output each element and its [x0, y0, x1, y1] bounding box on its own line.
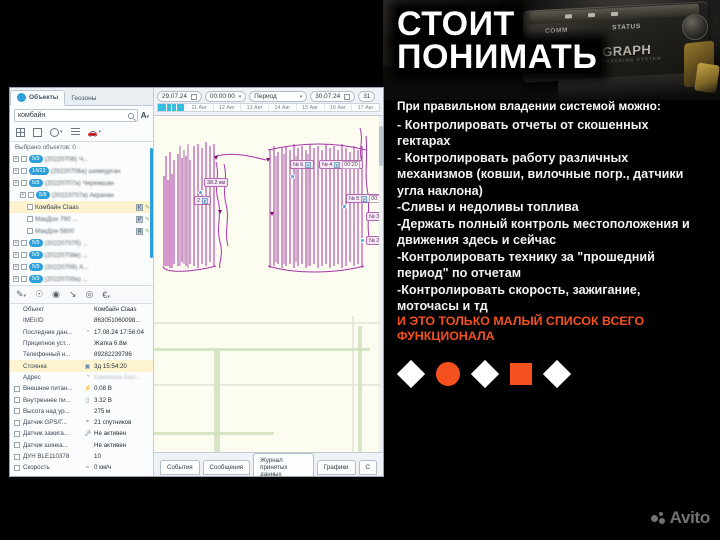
- promo-bullet-list: - Контролировать отчеты от скошенных гек…: [397, 118, 715, 316]
- search-icon: [128, 113, 134, 119]
- selected-objects-value: 0: [72, 144, 75, 151]
- tab-geozones[interactable]: Геозоны: [65, 93, 102, 105]
- map-vertical-scrollbar[interactable]: [379, 116, 383, 452]
- property-row[interactable]: Последние дан...◔17.08.24 17:56:04: [10, 327, 153, 338]
- bottom-tab-bar: СобытияСообщенияЖурнал принятых данныхГр…: [154, 452, 383, 476]
- object-type-badge[interactable]: Р: [136, 216, 143, 223]
- tree-row-label: Комбайн Claas: [35, 204, 79, 211]
- tree-count-badge: 5/9: [29, 263, 43, 271]
- map-pin[interactable]: [360, 238, 365, 243]
- property-row[interactable]: Датчик зажига...🗝Не активен: [10, 428, 153, 439]
- tree-row-label: (20223707а) Акрахан: [52, 192, 114, 199]
- object-type-badge[interactable]: К: [136, 204, 143, 211]
- expand-toggle-icon[interactable]: +: [13, 156, 19, 162]
- property-checkbox[interactable]: [14, 386, 20, 392]
- object-properties-list: ОбъектКомбайн ClaasIMEI/ID863051060098..…: [10, 304, 153, 476]
- expand-toggle-icon[interactable]: +: [20, 192, 26, 198]
- map-distance-label[interactable]: 38.2 км: [204, 178, 228, 187]
- objects-tree: +5/9(20220706) Ч...+14/23(20220706а) шим…: [10, 153, 153, 285]
- expand-toggle-icon[interactable]: +: [13, 180, 19, 186]
- property-value: 0 км/ч: [94, 464, 111, 471]
- property-key: Адрес: [23, 374, 81, 381]
- bottom-tab[interactable]: События: [160, 460, 200, 475]
- tree-row[interactable]: МакДон 5800Я✎: [10, 225, 153, 237]
- date-from-field[interactable]: 29.07.24: [157, 91, 202, 102]
- property-value: Каменная Бал...: [94, 374, 140, 381]
- tree-row-checkbox[interactable]: [21, 156, 27, 162]
- map-pin[interactable]: [198, 190, 203, 195]
- diamond-icon: [543, 360, 571, 388]
- expand-toggle-icon[interactable]: +: [13, 240, 19, 246]
- property-icon: ◔: [84, 329, 91, 335]
- bullet-line: механизмов (ковши, вилочные погр., датчи…: [397, 167, 715, 183]
- report-icon[interactable]: €▾: [102, 290, 110, 300]
- timeline-strip[interactable]: 10 Авг11 Авг12 Авг13 Авг14 Авг15 Авг16 А…: [157, 103, 380, 112]
- tree-count-badge: 5/8: [29, 179, 43, 187]
- property-value: 3.32 В: [94, 397, 112, 404]
- timeline-tick[interactable]: 16 Авг: [325, 104, 353, 111]
- bullet-line: - Контролировать работу различных: [397, 151, 715, 167]
- search-input[interactable]: комбайн: [14, 109, 138, 122]
- avito-watermark: Avito: [651, 508, 710, 528]
- promo-headline: СТОИТ ПОНИМАТЬ: [397, 8, 697, 73]
- timeline-tick[interactable]: 14 Авг: [269, 104, 297, 111]
- property-row[interactable]: ОбъектКомбайн Claas: [10, 304, 153, 315]
- chevron-down-icon: ▾: [239, 94, 242, 100]
- tree-count-badge: 5/9: [29, 155, 43, 163]
- property-icon: ▯: [84, 397, 91, 404]
- calendar-icon: [191, 94, 197, 100]
- map-marker[interactable]: 2 P: [194, 196, 211, 205]
- tree-row-label: (20220708в) ...: [45, 252, 88, 259]
- marker-label: № 5: [349, 196, 359, 202]
- property-checkbox[interactable]: [14, 442, 20, 448]
- property-key: ДУН BLE110378: [23, 453, 81, 460]
- property-checkbox[interactable]: [14, 397, 20, 403]
- sort-az-button[interactable]: A▾: [141, 111, 149, 120]
- bottom-tab[interactable]: Сообщения: [203, 460, 251, 475]
- list-view-button[interactable]: [71, 128, 80, 137]
- property-key: Прицепное уст...: [23, 340, 81, 347]
- tree-count-badge: 5/9: [29, 239, 43, 247]
- screenshot-root: COMM STATUS NAV AutoGRAPH VEHICLE TRACKI…: [0, 0, 720, 540]
- bullet-line: -Контролировать скорость, зажигание,: [397, 283, 715, 299]
- tree-row[interactable]: Комбайн ClaasК✎: [10, 201, 153, 213]
- tracking-app-screenshot: Объекты Геозоны комбайн A▾ ▾: [10, 88, 383, 476]
- tree-row[interactable]: +5/8(20223707а) Акрахан: [10, 189, 153, 201]
- timeline-tick[interactable]: 12 Авг: [214, 104, 242, 111]
- time-from-value: 00:00:00: [210, 93, 235, 100]
- chevron-down-icon: ▾: [300, 94, 303, 100]
- tree-row-label: (20220707а) Черемшан: [45, 180, 115, 187]
- promo-decorative-shapes: [401, 362, 567, 386]
- marker-label: № 6: [293, 162, 303, 168]
- tree-row-checkbox[interactable]: [21, 252, 27, 258]
- property-row[interactable]: Адрес◔Каменная Бал...: [10, 372, 153, 383]
- tree-count-badge: 14/23: [29, 167, 49, 175]
- expand-toggle-icon[interactable]: +: [13, 276, 19, 282]
- tree-row-checkbox[interactable]: [27, 228, 33, 234]
- property-row[interactable]: Скорость≈0 км/ч: [10, 462, 153, 473]
- marker-mini-icon: P: [334, 162, 340, 168]
- property-row[interactable]: Внешние питан...⚡0.08 В: [10, 383, 153, 394]
- bullet-line: гектарах: [397, 134, 715, 150]
- marker-mini-icon: P: [202, 198, 208, 204]
- property-key: Последние дан...: [23, 329, 81, 336]
- objects-sidebar: Объекты Геозоны комбайн A▾ ▾: [10, 88, 154, 476]
- tree-row-tags: Я✎: [136, 228, 150, 235]
- promo-lead-text: При правильном владении системой можно:: [397, 99, 712, 114]
- marker-label: № 3: [369, 214, 379, 220]
- search-input-value: комбайн: [18, 112, 128, 119]
- diamond-icon: [397, 360, 425, 388]
- property-row[interactable]: Датчик GPS/Г...⌖21 спутников: [10, 417, 153, 428]
- property-checkbox[interactable]: [14, 454, 20, 460]
- property-key: Высота над ур...: [23, 408, 81, 415]
- marker-label: № 2: [369, 238, 379, 244]
- calendar-icon: [344, 94, 350, 100]
- target-icon[interactable]: ◎: [86, 289, 94, 300]
- avito-wordmark: Avito: [670, 508, 710, 528]
- property-key: Внешние питан...: [23, 385, 81, 392]
- property-row[interactable]: IMEI/ID863051060098...: [10, 315, 153, 326]
- tree-row[interactable]: +5/9(20220709) А...: [10, 261, 153, 273]
- vehicle-filter-button[interactable]: 🚗▾: [88, 129, 101, 137]
- tree-row-checkbox[interactable]: [21, 168, 27, 174]
- property-value: 89282239786: [94, 351, 132, 358]
- property-value: 863051060098...: [94, 317, 140, 324]
- tree-row[interactable]: +5/9(20220708в) ...: [10, 249, 153, 261]
- tree-row-label: МакДон 790 ...: [35, 216, 78, 223]
- tree-row-tags: Р✎: [136, 216, 150, 223]
- property-icon: ◔: [84, 374, 91, 380]
- tab-objects[interactable]: Объекты: [10, 90, 65, 106]
- route-arrow-icon[interactable]: ↘: [69, 289, 77, 300]
- timeline-tick[interactable]: 13 Авг: [241, 104, 269, 111]
- expand-toggle-icon[interactable]: +: [13, 264, 19, 270]
- tree-row-label: (20220706) Ч...: [45, 156, 89, 163]
- bullet-line: - Контролировать отчеты от скошенных: [397, 118, 715, 134]
- sidebar-scrollbar[interactable]: [150, 148, 153, 258]
- marker-mini-icon: P: [361, 196, 367, 202]
- property-icon: 🗝: [84, 430, 91, 437]
- map-marker[interactable]: № 5 P 00:00: [346, 194, 383, 203]
- bullet-line: -Сливы и недоливы топлива: [397, 200, 715, 216]
- grid-view-button[interactable]: [16, 128, 25, 137]
- tree-row-checkbox[interactable]: [21, 180, 27, 186]
- tree-row-label: (20220707б) ...: [45, 240, 88, 247]
- promo-cta: И ЭТО ТОЛЬКО МАЛЫЙ СПИСОК ВСЕГО ФУНКЦИОН…: [397, 314, 697, 344]
- date-range-toolbar: 29.07.24 00:00:00 ▾ Период ▾ 30.07.24: [154, 88, 383, 116]
- tree-row-checkbox[interactable]: [27, 216, 33, 222]
- date-controls-row: 29.07.24 00:00:00 ▾ Период ▾ 30.07.24: [157, 91, 380, 102]
- tree-row-label: (20220709а) ...: [45, 276, 88, 283]
- property-icon: ⚡: [84, 385, 91, 392]
- map-pane: 29.07.24 00:00:00 ▾ Период ▾ 30.07.24: [154, 88, 383, 476]
- property-row[interactable]: Уровень сигна...↑77 %: [10, 473, 153, 476]
- tree-row-tags: К✎: [136, 204, 150, 211]
- distance-value: 38.2 км: [207, 180, 225, 186]
- property-checkbox[interactable]: [14, 431, 20, 437]
- property-row[interactable]: Высота над ур...275 м: [10, 406, 153, 417]
- circle-icon: [436, 362, 460, 386]
- period-label: Период: [254, 93, 276, 100]
- property-key: Датчик шинка...: [23, 442, 81, 449]
- tree-row[interactable]: +5/9(20220709а) ...: [10, 273, 153, 285]
- time-to-field[interactable]: 31: [358, 91, 375, 102]
- tab-objects-label: Объекты: [29, 94, 58, 101]
- marker-label: № 4: [322, 162, 332, 168]
- map-marker[interactable]: № 4 P 00:20: [319, 160, 363, 169]
- sidebar-tabs: Объекты Геозоны: [10, 88, 153, 106]
- property-value: 21 спутников: [94, 419, 131, 426]
- tree-row-checkbox[interactable]: [28, 192, 34, 198]
- property-value: Не активен: [94, 430, 126, 437]
- timeline-tick[interactable]: 15 Авг: [297, 104, 325, 111]
- property-value: 10: [94, 453, 101, 460]
- map-marker[interactable]: № 6 P: [290, 160, 314, 169]
- sidebar-search-row: комбайн A▾: [10, 106, 153, 125]
- property-key: Датчик зажига...: [23, 430, 81, 437]
- property-key: Датчик GPS/Г...: [23, 419, 81, 426]
- tree-count-badge: 5/8: [36, 191, 50, 199]
- map-pin[interactable]: [290, 174, 295, 179]
- tab-geozones-label: Геозоны: [71, 95, 96, 102]
- edit-pencil-icon[interactable]: ✎▾: [16, 289, 26, 300]
- bullet-line: -Держать полный контроль местоположения …: [397, 217, 715, 233]
- property-value: Комбайн Claas: [94, 306, 136, 313]
- diamond-icon: [471, 360, 499, 388]
- circle-filter-button[interactable]: ▾: [50, 128, 63, 137]
- property-row[interactable]: Прицепное уст...Жатка 6.8м: [10, 338, 153, 349]
- property-value: Жатка 6.8м: [94, 340, 127, 347]
- property-row[interactable]: Стоянка▣3д 15:54:20: [10, 360, 153, 371]
- property-key: Телефонный н...: [23, 351, 81, 358]
- sidebar-view-toolbar: ▾ 🚗▾: [10, 125, 153, 142]
- tree-row-label: (20220706а) шимкурган: [51, 168, 121, 175]
- map-pin[interactable]: [342, 204, 347, 209]
- property-checkbox[interactable]: [14, 465, 20, 471]
- avito-logo-icon: [651, 512, 666, 525]
- tree-row-checkbox[interactable]: [21, 264, 27, 270]
- property-value: 17.08.24 17:56:04: [94, 329, 144, 336]
- cta-line-2: ФУНКЦИОНАЛА: [397, 329, 697, 344]
- tree-row[interactable]: +5/9(20220707б) ...: [10, 237, 153, 249]
- time-from-field[interactable]: 00:00:00 ▾: [205, 91, 246, 102]
- tree-row[interactable]: МакДон 790 ...Р✎: [10, 213, 153, 225]
- timeline-tick[interactable]: 17 Авг: [352, 104, 379, 111]
- property-checkbox[interactable]: [14, 420, 20, 426]
- tree-count-badge: 5/9: [29, 251, 43, 259]
- date-from-value: 29.07.24: [162, 93, 187, 100]
- map-canvas[interactable]: № 6 P № 4 P 00:20 № 5 P 00:00 № 3 P: [154, 116, 383, 452]
- promo-panel: COMM STATUS NAV AutoGRAPH VEHICLE TRACKI…: [383, 0, 720, 540]
- property-key: Объект: [23, 306, 81, 313]
- property-row[interactable]: ДУН BLE11037810: [10, 451, 153, 462]
- bottom-tab[interactable]: Графики: [317, 460, 356, 475]
- marker-label: 2: [197, 198, 200, 204]
- objects-icon: [17, 93, 26, 102]
- property-icon: ≈: [84, 465, 91, 471]
- tree-row-checkbox[interactable]: [21, 240, 27, 246]
- timeline-tick[interactable]: 11 Авг: [186, 104, 214, 111]
- object-type-badge[interactable]: Я: [136, 228, 143, 235]
- bottom-tab[interactable]: Журнал принятых данных: [253, 453, 314, 476]
- property-key: Стоянка: [23, 363, 81, 370]
- expand-toggle-icon[interactable]: +: [13, 252, 19, 258]
- selected-objects-counter: Выбрано объектов: 0: [10, 142, 153, 153]
- bullet-line: моточасы и тд: [397, 299, 715, 315]
- property-icon: ⌖: [84, 419, 91, 426]
- tree-count-badge: 5/9: [29, 275, 43, 283]
- selected-objects-label: Выбрано объектов:: [15, 144, 71, 151]
- bullet-line: период" по отчетам: [397, 266, 715, 282]
- headline-line-2: ПОНИМАТЬ: [397, 41, 601, 74]
- tree-row-checkbox[interactable]: [27, 204, 33, 210]
- tree-row-label: МакДон 5800: [35, 228, 74, 235]
- property-row[interactable]: Внутреннее пи...▯3.32 В: [10, 394, 153, 405]
- expand-toggle-icon[interactable]: +: [13, 168, 19, 174]
- tree-row[interactable]: +14/23(20220706а) шимкурган: [10, 165, 153, 177]
- marker-time: 00:20: [342, 161, 360, 169]
- headline-line-1: СТОИТ: [397, 8, 519, 41]
- time-to-value: 31: [363, 93, 370, 100]
- bullet-line: движения здесь и сейчас: [397, 233, 715, 249]
- box-view-button[interactable]: [33, 128, 42, 137]
- tree-row-checkbox[interactable]: [21, 276, 27, 282]
- tree-row[interactable]: +5/8(20220707а) Черемшан: [10, 177, 153, 189]
- bottom-tab[interactable]: С: [359, 460, 377, 475]
- property-icon: ▣: [84, 363, 91, 370]
- property-row[interactable]: Датчик шинка...Не активен: [10, 440, 153, 451]
- property-key: Внутреннее пи...: [23, 397, 81, 404]
- tree-row[interactable]: +5/9(20220706) Ч...: [10, 153, 153, 165]
- property-value: 0.08 В: [94, 385, 112, 392]
- marker-mini-icon: P: [305, 162, 311, 168]
- property-key: IMEI/ID: [23, 317, 81, 324]
- property-value: 275 м: [94, 408, 110, 415]
- property-checkbox[interactable]: [14, 408, 20, 414]
- date-to-value: 30.07.24: [315, 93, 340, 100]
- property-value: Не активен: [94, 442, 126, 449]
- property-value: 3д 15:54:20: [94, 363, 127, 370]
- bullet-line: угла наклона): [397, 184, 715, 200]
- bullet-line: -Контролировать технику за "прошедний: [397, 250, 715, 266]
- period-select[interactable]: Период ▾: [249, 91, 307, 102]
- square-icon: [510, 363, 532, 385]
- tree-row-label: (20220709) А...: [45, 264, 89, 271]
- object-actions-toolbar: ✎▾ ☉ ◉ ↘ ◎ €▾: [10, 285, 153, 304]
- cta-line-1: И ЭТО ТОЛЬКО МАЛЫЙ СПИСОК ВСЕГО: [397, 314, 697, 329]
- date-to-field[interactable]: 30.07.24: [310, 91, 355, 102]
- location-pin-icon[interactable]: ☉: [35, 289, 43, 300]
- property-key: Скорость: [23, 464, 81, 471]
- eye-visibility-icon[interactable]: ◉: [52, 289, 60, 300]
- property-row[interactable]: Телефонный н...89282239786: [10, 349, 153, 360]
- timeline-selection[interactable]: [158, 104, 184, 111]
